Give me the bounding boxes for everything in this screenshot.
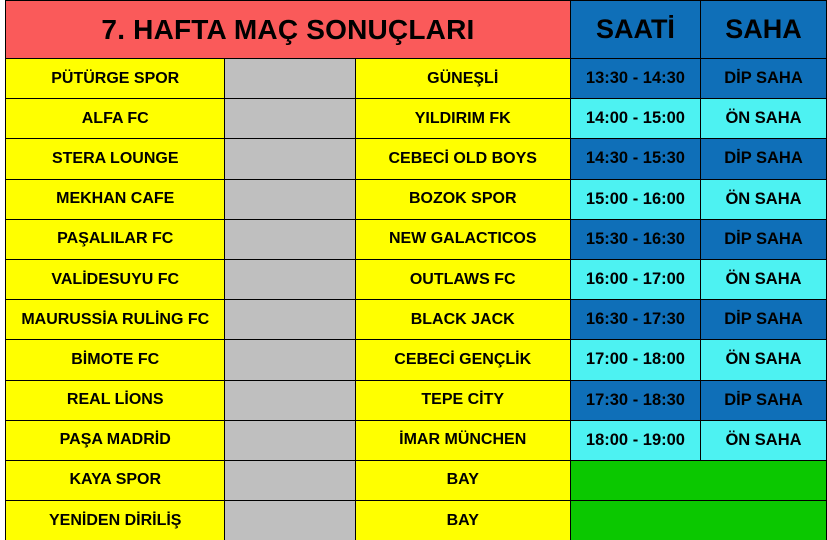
table-row: VALİDESUYU FCOUTLAWS FC16:00 - 17:00ÖN S… xyxy=(6,259,827,299)
home-team-cell: YENİDEN DİRİLİŞ xyxy=(6,501,225,540)
score-cell[interactable] xyxy=(225,340,355,380)
table-row: ALFA FCYILDIRIM FK14:00 - 15:00ÖN SAHA xyxy=(6,99,827,139)
away-team-cell: İMAR MÜNCHEN xyxy=(355,420,570,460)
home-team-cell: KAYA SPOR xyxy=(6,460,225,500)
match-field-cell: ÖN SAHA xyxy=(700,99,826,139)
score-cell[interactable] xyxy=(225,420,355,460)
score-cell[interactable] xyxy=(225,460,355,500)
home-team-cell: ALFA FC xyxy=(6,99,225,139)
table-header-row: 7. HAFTA MAÇ SONUÇLARI SAATİ SAHA xyxy=(6,1,827,59)
table-row: MAURUSSİA RULİNG FCBLACK JACK16:30 - 17:… xyxy=(6,300,827,340)
fixture-table: 7. HAFTA MAÇ SONUÇLARI SAATİ SAHA PÜTÜRG… xyxy=(5,0,827,540)
match-field-cell: DİP SAHA xyxy=(700,139,826,179)
away-team-cell: BAY xyxy=(355,460,570,500)
no-match-cell xyxy=(570,460,826,500)
match-time-cell: 16:30 - 17:30 xyxy=(570,300,700,340)
match-time-cell: 16:00 - 17:00 xyxy=(570,259,700,299)
match-time-cell: 17:30 - 18:30 xyxy=(570,380,700,420)
match-field-cell: ÖN SAHA xyxy=(700,259,826,299)
away-team-cell: NEW GALACTICOS xyxy=(355,219,570,259)
home-team-cell: MEKHAN CAFE xyxy=(6,179,225,219)
column-header-time: SAATİ xyxy=(570,1,700,59)
match-field-cell: DİP SAHA xyxy=(700,300,826,340)
table-row: PAŞALILAR FCNEW GALACTICOS15:30 - 16:30D… xyxy=(6,219,827,259)
match-field-cell: DİP SAHA xyxy=(700,219,826,259)
table-row: PAŞA MADRİDİMAR MÜNCHEN18:00 - 19:00ÖN S… xyxy=(6,420,827,460)
away-team-cell: GÜNEŞLİ xyxy=(355,59,570,99)
match-time-cell: 18:00 - 19:00 xyxy=(570,420,700,460)
home-team-cell: PAŞA MADRİD xyxy=(6,420,225,460)
table-row: YENİDEN DİRİLİŞBAY xyxy=(6,501,827,540)
away-team-cell: OUTLAWS FC xyxy=(355,259,570,299)
table-row: BİMOTE FCCEBECİ GENÇLİK17:00 - 18:00ÖN S… xyxy=(6,340,827,380)
away-team-cell: YILDIRIM FK xyxy=(355,99,570,139)
score-cell[interactable] xyxy=(225,99,355,139)
home-team-cell: PAŞALILAR FC xyxy=(6,219,225,259)
away-team-cell: BLACK JACK xyxy=(355,300,570,340)
home-team-cell: VALİDESUYU FC xyxy=(6,259,225,299)
match-field-cell: ÖN SAHA xyxy=(700,179,826,219)
score-cell[interactable] xyxy=(225,219,355,259)
table-row: REAL LİONSTEPE CİTY17:30 - 18:30DİP SAHA xyxy=(6,380,827,420)
no-match-cell xyxy=(570,501,826,540)
away-team-cell: CEBECİ OLD BOYS xyxy=(355,139,570,179)
home-team-cell: BİMOTE FC xyxy=(6,340,225,380)
match-field-cell: DİP SAHA xyxy=(700,59,826,99)
table-row: PÜTÜRGE SPORGÜNEŞLİ13:30 - 14:30DİP SAHA xyxy=(6,59,827,99)
home-team-cell: PÜTÜRGE SPOR xyxy=(6,59,225,99)
match-field-cell: DİP SAHA xyxy=(700,380,826,420)
table-row: MEKHAN CAFEBOZOK SPOR15:00 - 16:00ÖN SAH… xyxy=(6,179,827,219)
match-time-cell: 14:00 - 15:00 xyxy=(570,99,700,139)
fixture-table-body: 7. HAFTA MAÇ SONUÇLARI SAATİ SAHA PÜTÜRG… xyxy=(6,1,827,540)
match-field-cell: ÖN SAHA xyxy=(700,420,826,460)
match-time-cell: 17:00 - 18:00 xyxy=(570,340,700,380)
table-row: STERA LOUNGECEBECİ OLD BOYS14:30 - 15:30… xyxy=(6,139,827,179)
score-cell[interactable] xyxy=(225,259,355,299)
score-cell[interactable] xyxy=(225,300,355,340)
column-header-field: SAHA xyxy=(700,1,826,59)
home-team-cell: REAL LİONS xyxy=(6,380,225,420)
home-team-cell: MAURUSSİA RULİNG FC xyxy=(6,300,225,340)
table-row: KAYA SPORBAY xyxy=(6,460,827,500)
match-time-cell: 15:30 - 16:30 xyxy=(570,219,700,259)
page-title: 7. HAFTA MAÇ SONUÇLARI xyxy=(6,1,571,59)
fixture-board: 7. HAFTA MAÇ SONUÇLARI SAATİ SAHA PÜTÜRG… xyxy=(0,0,827,527)
match-field-cell: ÖN SAHA xyxy=(700,340,826,380)
match-time-cell: 15:00 - 16:00 xyxy=(570,179,700,219)
home-team-cell: STERA LOUNGE xyxy=(6,139,225,179)
away-team-cell: CEBECİ GENÇLİK xyxy=(355,340,570,380)
score-cell[interactable] xyxy=(225,380,355,420)
score-cell[interactable] xyxy=(225,139,355,179)
away-team-cell: TEPE CİTY xyxy=(355,380,570,420)
score-cell[interactable] xyxy=(225,59,355,99)
away-team-cell: BOZOK SPOR xyxy=(355,179,570,219)
score-cell[interactable] xyxy=(225,501,355,540)
away-team-cell: BAY xyxy=(355,501,570,540)
match-time-cell: 14:30 - 15:30 xyxy=(570,139,700,179)
match-time-cell: 13:30 - 14:30 xyxy=(570,59,700,99)
score-cell[interactable] xyxy=(225,179,355,219)
